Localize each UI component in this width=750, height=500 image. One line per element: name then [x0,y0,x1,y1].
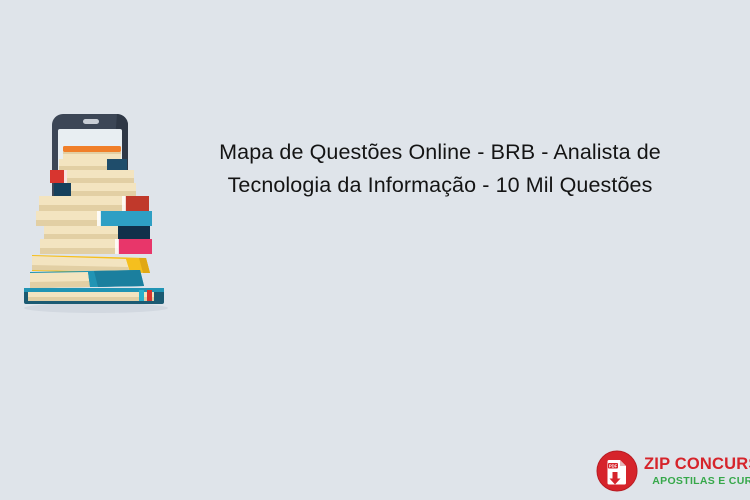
page-title-line-1: Mapa de Questões Online - BRB - Analista… [186,136,694,169]
book-deepnavy [44,226,150,239]
brand-name: ZIP CONCURSOS [644,456,750,473]
book-darknavy [54,183,136,196]
pdf-download-icon: PDF [596,450,638,492]
page-title: Mapa de Questões Online - BRB - Analista… [186,136,694,202]
brand-tagline: APOSTILAS E CURSOS [644,476,750,487]
brand-wordmark: ZIP CONCURSOS APOSTILAS E CURSOS [644,456,750,486]
book-teal-lower [30,270,144,288]
book-magenta [40,239,152,254]
page-title-line-2: Tecnologia da Informação - 10 Mil Questõ… [186,169,694,202]
svg-text:PDF: PDF [609,463,618,468]
book-orange-top [63,146,121,159]
brand-logo[interactable]: PDF ZIP CONCURSOS APOSTILAS E CURSOS [596,448,742,494]
stack-of-books-with-smartphone-illustration [14,112,174,317]
book-darkred [39,196,149,211]
book-base [24,288,164,304]
book-teal-mid [36,211,152,226]
book-red-upper [50,170,134,183]
poster-canvas: Mapa de Questões Online - BRB - Analista… [0,0,750,500]
book-navy-upper [59,159,127,170]
